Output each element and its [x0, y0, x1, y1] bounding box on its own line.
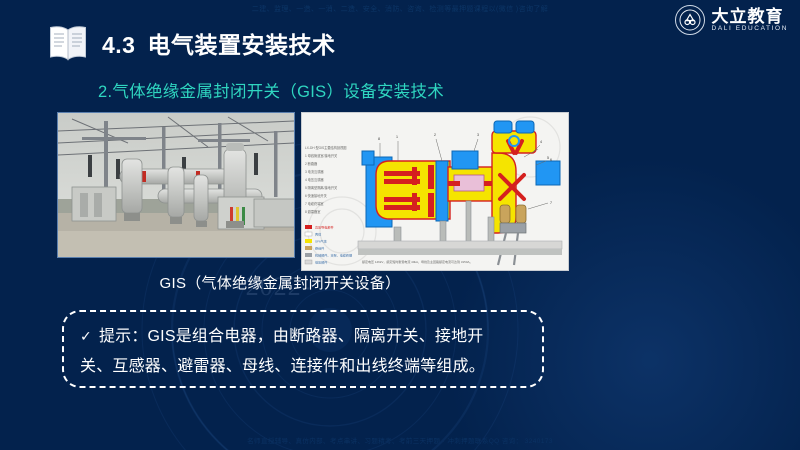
title-label: 电气装置安装技术: [147, 32, 335, 58]
svg-text:低压部件: 低压部件: [315, 260, 327, 265]
tip-box: ✓提示：GIS是组合电器，由断路器、隔离开关、接地开 关、互感器、避雷器、母线、…: [62, 310, 544, 388]
svg-text:3 电流互感器: 3 电流互感器: [305, 169, 324, 174]
svg-text:1: 1: [396, 135, 398, 139]
svg-text:5 隔离型隔离/接地开关: 5 隔离型隔离/接地开关: [305, 185, 338, 190]
check-icon: ✓: [80, 328, 92, 344]
svg-text:5: 5: [547, 156, 549, 160]
media-caption: GIS（气体绝缘金属封闭开关设备）: [0, 272, 560, 293]
footer-note: 名师直授辅导、真仿内部、考点串讲、习题精考、考前三天押题 · 冲刺押题联系QQ …: [0, 435, 800, 445]
tip-line-2: 关、互感器、避雷器、母线、连接件和出线终端等组成。: [80, 352, 526, 382]
gis-cross-section-diagram: LX-DH 型GIS主要结构剖视图 1 母线管道室/接地开关 2 断路器 3 电…: [301, 112, 569, 271]
svg-text:7: 7: [550, 201, 552, 205]
svg-text:2 断路器: 2 断路器: [305, 161, 318, 166]
svg-text:4: 4: [540, 140, 542, 144]
svg-text:2: 2: [434, 133, 436, 137]
gis-substation-photo: [57, 112, 295, 258]
svg-text:4 电压互感器: 4 电压互感器: [305, 177, 324, 182]
tip-text-1: 提示：GIS是组合电器，由断路器、隔离开关、接地开: [99, 328, 484, 345]
svg-text:6 快速接地开关: 6 快速接地开关: [305, 193, 328, 198]
svg-text:机械部件、支架、电缆终端: 机械部件、支架、电缆终端: [315, 253, 352, 258]
svg-text:高压导电部件: 高压导电部件: [315, 225, 334, 230]
brand-logo: 大立教育 DALI EDUCATION: [675, 5, 788, 35]
title-text-wrap: 4.3电气装置安装技术: [102, 26, 335, 60]
title-number: 4.3: [102, 32, 135, 58]
tip-line-1: ✓提示：GIS是组合电器，由断路器、隔离开关、接地开: [80, 321, 526, 352]
svg-text:额定电压 146kV，额定短时耐受电流 40kA，母线及主回: 额定电压 146kV，额定短时耐受电流 40kA，母线及主回路额定电流可达到 3…: [362, 259, 473, 264]
svg-text:LX-DH 型GIS主要结构剖视图: LX-DH 型GIS主要结构剖视图: [305, 145, 346, 150]
svg-text:8 避雷器室: 8 避雷器室: [305, 209, 320, 214]
brand-name: 大立教育 DALI EDUCATION: [712, 8, 788, 33]
section-subtitle: 2.气体绝缘金属封闭开关（GIS）设备安装技术: [98, 78, 444, 102]
svg-text:绝缘件: 绝缘件: [315, 246, 324, 251]
svg-text:3: 3: [477, 133, 479, 137]
brand-name-en: DALI EDUCATION: [712, 26, 788, 33]
svg-text:6: 6: [550, 158, 552, 162]
svg-text:8: 8: [378, 137, 380, 141]
svg-text:7 电缆终端室: 7 电缆终端室: [305, 201, 324, 206]
brand-name-cn: 大立教育: [712, 8, 788, 25]
slide-root: -2022- 二建、监理、一造、一消、二造、安全、消防、咨询、检测等最押题课程以…: [0, 0, 800, 450]
dali-logo-icon: [675, 5, 705, 35]
page-title: 4.3电气装置安装技术: [46, 22, 335, 64]
svg-text:SF6气体: SF6气体: [315, 239, 327, 244]
open-book-icon: [46, 22, 90, 64]
svg-text:壳体: 壳体: [315, 232, 321, 237]
svg-text:1 母线管道室/接地开关: 1 母线管道室/接地开关: [305, 153, 338, 158]
